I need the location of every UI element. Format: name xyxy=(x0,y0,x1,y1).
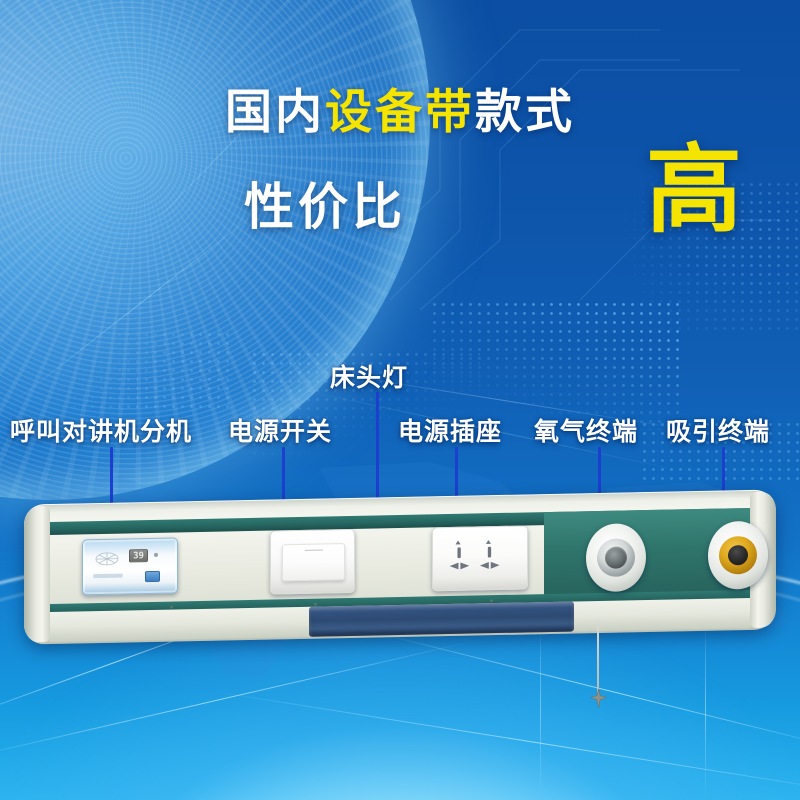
circuit-lines xyxy=(380,0,800,320)
cord-weight-icon xyxy=(590,689,607,708)
power-socket[interactable] xyxy=(432,525,528,591)
headline-emphasis: 高 xyxy=(646,143,742,239)
callout-label-intercom: 呼叫对讲机分机 xyxy=(10,412,192,448)
suction-hanging-cord xyxy=(597,619,599,695)
intercom-call-button[interactable] xyxy=(145,571,160,582)
callout-label-power-switch: 电源开关 xyxy=(228,412,332,448)
headline-subtext: 性价比 xyxy=(0,167,800,239)
callout-label-power-socket: 电源插座 xyxy=(398,412,502,448)
headline-part-1: 国内 xyxy=(225,85,325,138)
halftone-dots xyxy=(70,330,230,410)
power-switch-rocker[interactable] xyxy=(282,543,345,581)
bed-head-unit: 39 xyxy=(24,497,776,637)
headline-part-3: 款式 xyxy=(475,85,575,138)
bhu-face-group: 39 xyxy=(24,489,776,644)
product-banner: 国内设备带款式 性价比 高 呼叫对讲机分机 电源开关 床头灯 电源插座 氧气终端… xyxy=(0,0,800,800)
headline-part-2: 设备带 xyxy=(325,85,475,138)
intercom-indicator-led xyxy=(154,553,158,557)
headline-block: 国内设备带款式 性价比 高 xyxy=(0,88,800,249)
headline-line-2: 性价比 高 xyxy=(0,163,800,249)
halftone-dots xyxy=(430,300,680,430)
speaker-grille-icon xyxy=(94,552,120,567)
background-artwork xyxy=(0,0,800,800)
call-intercom-extension[interactable]: 39 xyxy=(82,537,178,595)
power-switch[interactable] xyxy=(270,529,355,595)
callout-label-suction: 吸引终端 xyxy=(666,412,770,448)
callout-label-bed-lamp: 床头灯 xyxy=(330,358,408,394)
intercom-display: 39 xyxy=(129,549,148,562)
headline-line-1: 国内设备带款式 xyxy=(0,88,800,135)
intercom-label-strip xyxy=(93,574,123,579)
light-streaks xyxy=(0,0,800,800)
halftone-dots xyxy=(585,180,800,330)
bed-lamp-diffuser[interactable] xyxy=(309,602,574,637)
callout-label-oxygen: 氧气终端 xyxy=(534,412,638,448)
bhu-end-cap-left xyxy=(24,506,50,643)
socket-slots-icon xyxy=(433,526,527,591)
